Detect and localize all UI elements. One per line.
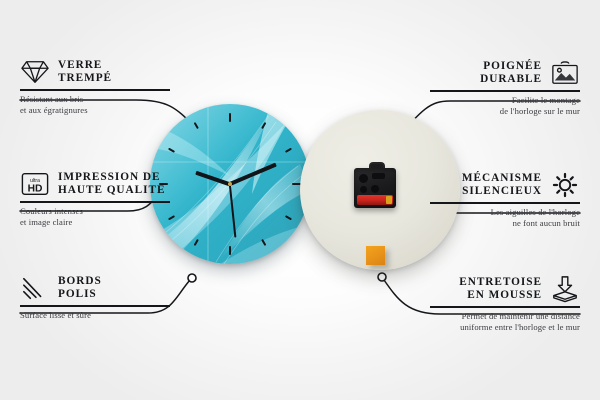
foam-spacer-icon: [550, 275, 580, 303]
battery-terminal: [386, 196, 392, 204]
feature-entretoise-en-mousse: ENTRETOISE EN MOUSSE Permet de maintenir…: [430, 275, 580, 332]
feature-title: MÉCANISME SILENCIEUX: [462, 172, 542, 199]
feature-rule: [430, 90, 580, 92]
feature-impression-haute-qualite: ultra HD IMPRESSION DE HAUTE QUALITÉ Cou…: [20, 170, 170, 227]
clock-mechanism: [354, 168, 396, 208]
feature-rule: [20, 305, 170, 307]
feature-rule: [20, 89, 170, 91]
clock-tick: [229, 246, 231, 255]
clock-tick: [229, 113, 231, 122]
foam-spacer: [366, 246, 385, 265]
feature-rule: [430, 306, 580, 308]
gear-icon: [550, 171, 580, 199]
connector-node-left-3: [188, 274, 196, 282]
diamond-icon: [20, 58, 50, 86]
ultra-hd-icon: ultra HD: [20, 170, 50, 198]
feature-description: Couleurs intenses et image claire: [20, 206, 170, 227]
battery: [357, 195, 393, 205]
mechanism-housing: [354, 168, 396, 208]
feature-title: ENTRETOISE EN MOUSSE: [459, 276, 542, 303]
feature-rule: [20, 201, 170, 203]
mechanism-detail: [372, 173, 385, 179]
mechanism-detail: [359, 174, 368, 183]
ultra-hd-icon-main-label: HD: [28, 183, 43, 194]
polished-edges-icon: [20, 274, 50, 302]
feature-poignee-durable: POIGNÉE DURABLE Facilite le montage de l…: [430, 59, 580, 116]
infographic-canvas: VERRE TREMPÉ Résistant aux bris et aux é…: [0, 0, 600, 400]
feature-description: Surface lisse et sûre: [20, 310, 170, 320]
feature-mecanisme-silencieux: MÉCANISME SILENCIEUX Les aiguilles de l'…: [430, 171, 580, 228]
feature-title: POIGNÉE DURABLE: [480, 60, 542, 87]
feature-description: Facilite le montage de l'horloge sur le …: [430, 95, 580, 116]
mechanism-detail: [371, 185, 379, 193]
clock-center-cap: [228, 182, 232, 186]
feature-description: Les aiguilles de l'horloge ne font aucun…: [430, 207, 580, 228]
feature-bords-polis: BORDS POLIS Surface lisse et sûre: [20, 274, 170, 321]
feature-description: Permet de maintenir une distance uniform…: [430, 311, 580, 332]
mechanism-detail: [360, 186, 367, 193]
feature-verre-trempe: VERRE TREMPÉ Résistant aux bris et aux é…: [20, 58, 170, 115]
feature-title: VERRE TREMPÉ: [58, 59, 112, 86]
feature-title: BORDS POLIS: [58, 275, 102, 302]
feature-description: Résistant aux bris et aux égratignures: [20, 94, 170, 115]
picture-hanger-icon: [550, 59, 580, 87]
feature-title: IMPRESSION DE HAUTE QUALITÉ: [58, 171, 165, 198]
clock-front: [150, 104, 310, 264]
connector-node-right-3: [378, 273, 386, 281]
feature-rule: [430, 202, 580, 204]
